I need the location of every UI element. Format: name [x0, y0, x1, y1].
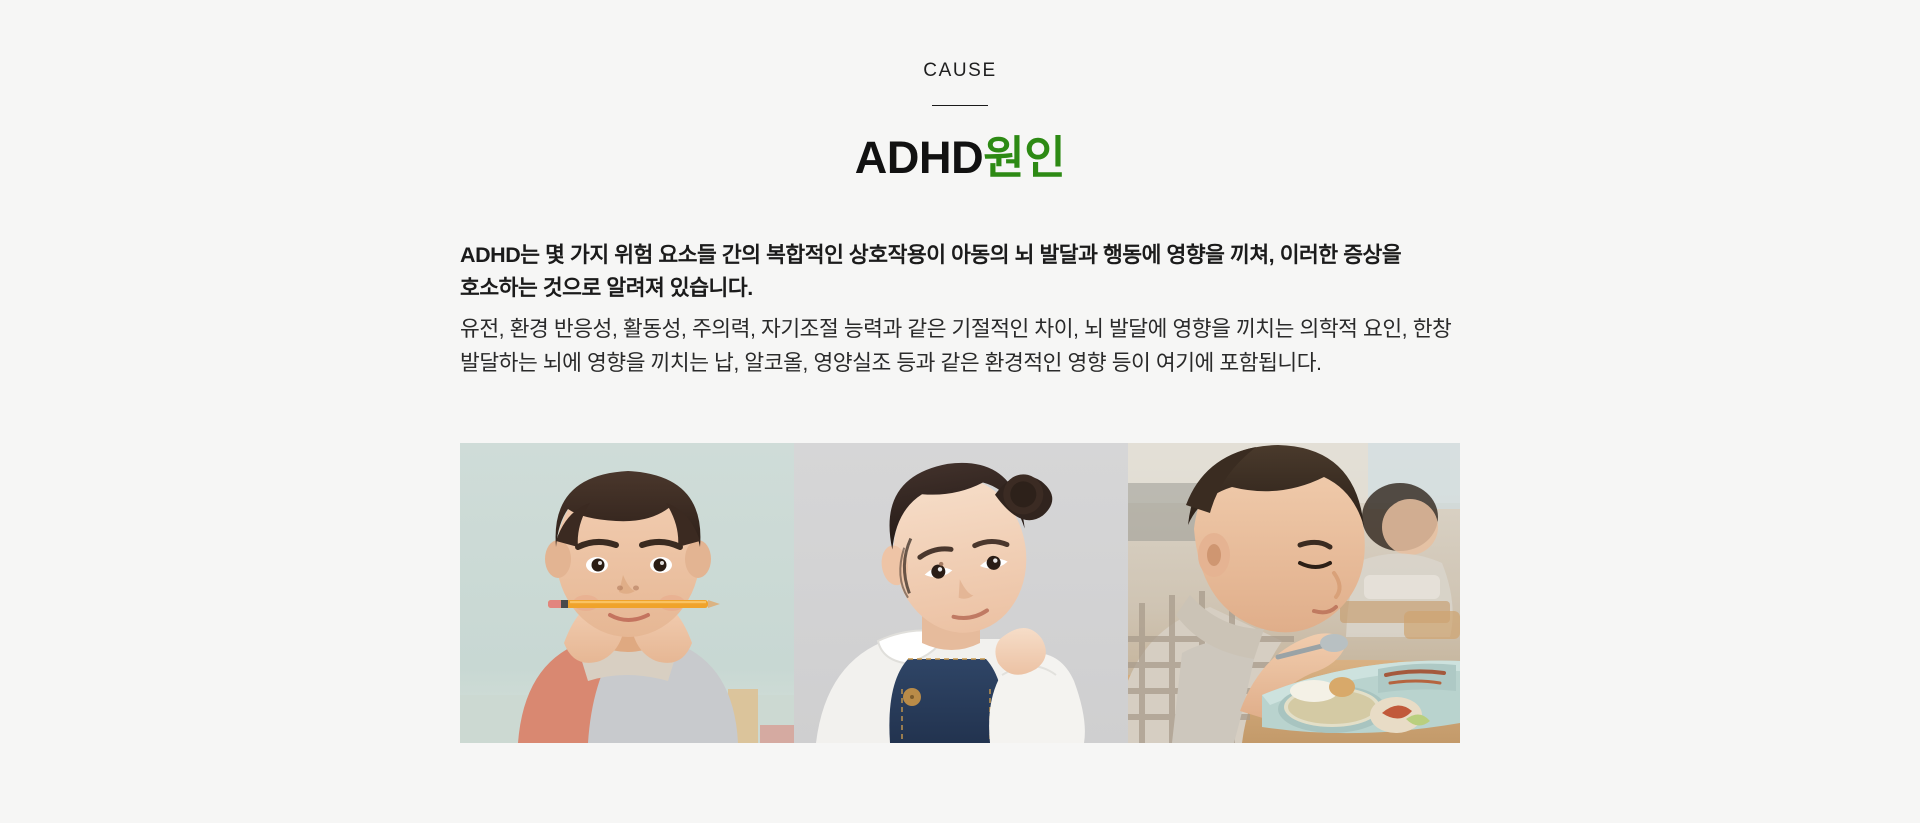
page-title-ko: 원인: [983, 132, 1065, 183]
cause-section-page: CAUSE ADHD원인 ADHD는 몇 가지 위험 요소들 간의 복합적인 상…: [0, 0, 1920, 823]
photo-boy-pencil-on-lip: [460, 443, 794, 743]
page-title-en: ADHD: [855, 132, 983, 183]
cause-detail-paragraph: 유전, 환경 반응성, 활동성, 주의력, 자기조절 능력과 같은 기절적인 차…: [460, 313, 1462, 380]
photo-gallery-strip: [460, 443, 1460, 743]
cause-description-block: ADHD는 몇 가지 위험 요소들 간의 복합적인 상호작용이 아동의 뇌 발달…: [460, 239, 1462, 380]
section-header: CAUSE ADHD원인: [0, 60, 1920, 186]
eyebrow-divider-rule: [932, 105, 988, 106]
photo-boy-eating-lunch-tray: [1128, 443, 1460, 743]
section-eyebrow-label: CAUSE: [0, 60, 1920, 83]
cause-lead-paragraph: ADHD는 몇 가지 위험 요소들 간의 복합적인 상호작용이 아동의 뇌 발달…: [460, 239, 1462, 304]
photo-girl-bored-chin-rest: [794, 443, 1128, 743]
page-title: ADHD원인: [0, 130, 1920, 186]
